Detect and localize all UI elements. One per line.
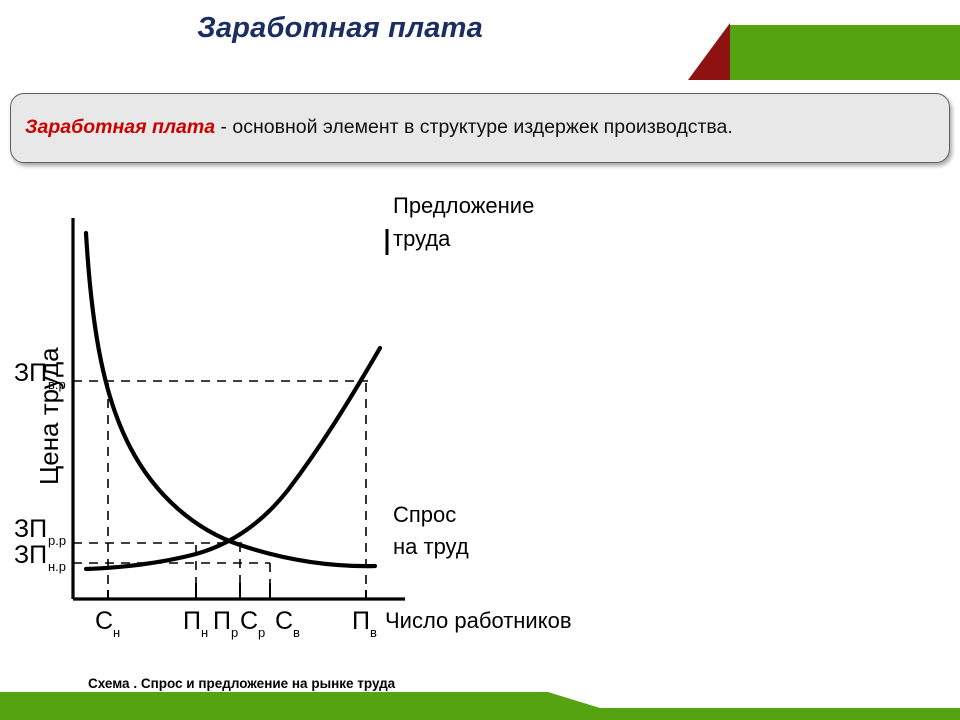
x-tick-base-pn: П <box>183 607 201 635</box>
x-tick-label-pv: П в <box>352 607 377 640</box>
footer-green-band <box>0 690 960 720</box>
x-tick-label-sn: С н <box>95 607 120 640</box>
statement-term: Заработная плата <box>25 116 215 138</box>
y-tick-base-low: ЗП <box>14 541 47 569</box>
x-tick-sub-pv: в <box>370 625 377 640</box>
x-tick-base-sr: С <box>240 607 258 635</box>
x-axis-title: Число работников <box>385 608 572 633</box>
demand-curve-label: Спрос на труд <box>393 502 469 559</box>
x-tick-sub-pn: н <box>201 625 208 640</box>
figure-caption: Схема . Спрос и предложение на рынке тру… <box>88 676 395 691</box>
demand-curve-label-line2: на труд <box>393 534 469 559</box>
header-red-flag-icon <box>688 23 733 80</box>
y-tick-base-high: ЗП <box>14 359 47 387</box>
x-tick-base-pr: П <box>213 607 231 635</box>
x-tick-sub-sv: в <box>293 625 300 640</box>
x-tick-label-sr: С р <box>240 607 265 640</box>
supply-curve-label: Предложение труда <box>387 193 534 255</box>
slide-header: Заработная плата <box>0 0 960 90</box>
statement-callout-box: Заработная плата - основной элемент в ст… <box>10 93 950 163</box>
x-tick-label-pr: П р <box>213 607 238 640</box>
supply-curve-label-line2: труда <box>393 226 451 251</box>
x-tick-label-sv: С в <box>275 607 300 640</box>
page-title: Заработная плата <box>0 12 680 45</box>
x-tick-labels: С н П н П р С р С в П в <box>95 607 377 640</box>
statement-text: Заработная плата - основной элемент в ст… <box>11 116 733 139</box>
x-tick-sub-sn: н <box>113 625 120 640</box>
y-tick-sub-low: н.р <box>48 559 66 574</box>
demand-curve-label-line1: Спрос <box>393 502 456 527</box>
x-tick-sub-sr: р <box>258 625 265 640</box>
x-tick-base-pv: П <box>352 607 370 635</box>
y-tick-sub-high: в.р <box>48 377 66 392</box>
statement-rest: - основной элемент в структуре издержек … <box>215 116 733 138</box>
x-tick-label-pn: П н <box>183 607 208 640</box>
demand-curve <box>86 233 375 566</box>
header-green-bar <box>730 25 960 80</box>
x-tick-sub-pr: р <box>231 625 238 640</box>
chart-axes <box>73 218 405 599</box>
chart-svg: Цена труда <box>0 185 640 645</box>
labor-market-supply-demand-diagram: Цена труда <box>0 185 640 645</box>
y-tick-sub-equilibrium: р.р <box>48 533 66 548</box>
y-tick-base-equilibrium: ЗП <box>14 515 47 543</box>
x-axis-ticks <box>108 583 366 599</box>
x-tick-base-sn: С <box>95 607 113 635</box>
x-tick-base-sv: С <box>275 607 293 635</box>
supply-curve-label-line1: Предложение <box>393 193 534 218</box>
